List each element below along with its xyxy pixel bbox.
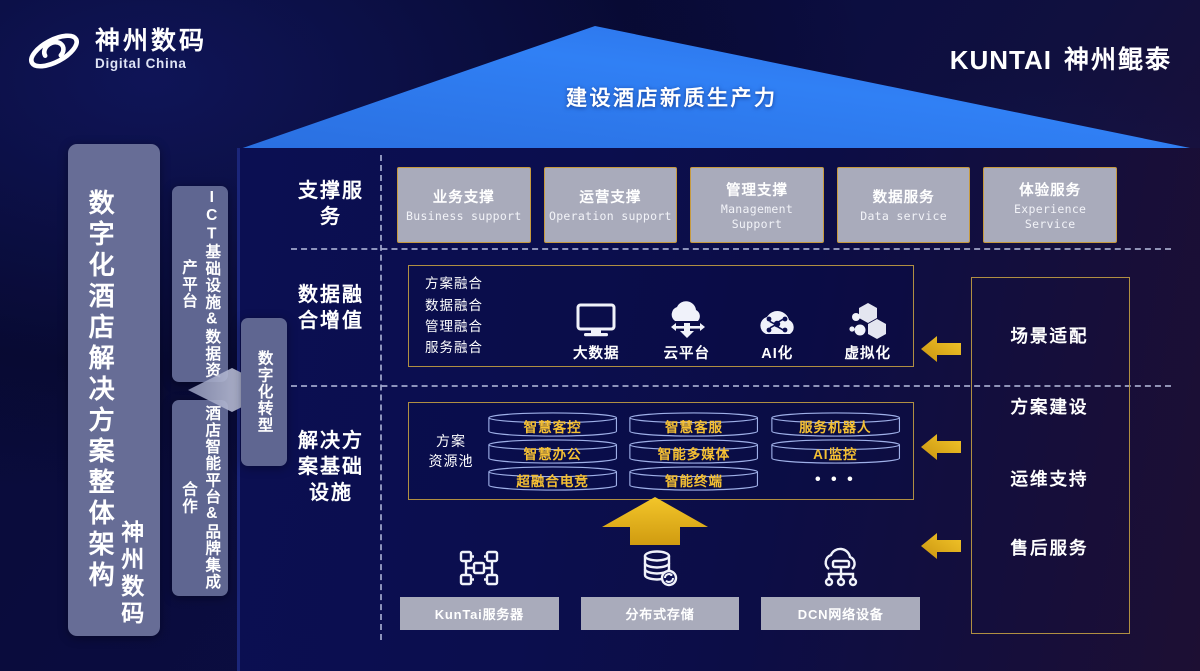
- fusion-item[interactable]: 大数据: [553, 295, 639, 363]
- support-card[interactable]: 体验服务 ExperienceService: [983, 167, 1117, 243]
- cubes-icon: [846, 295, 890, 339]
- hotel-platform-panel[interactable]: 酒店智能平台&品牌集成合作: [172, 400, 228, 596]
- pool-item[interactable]: AI监控: [770, 439, 901, 464]
- support-card-subtitle: Data service: [860, 209, 947, 223]
- pool-item-label: 智慧客服: [665, 413, 723, 436]
- support-card-title: 数据服务: [873, 186, 935, 207]
- infrastructure-row: KunTai服务器 分布式存储: [400, 530, 920, 630]
- support-card-subtitle: ManagementSupport: [721, 202, 793, 231]
- pool-item[interactable]: 智慧客服: [628, 412, 759, 437]
- infra-item-label: DCN网络设备: [761, 597, 920, 630]
- server-cluster-icon: [456, 545, 502, 589]
- support-card[interactable]: 运营支撑 Operation support: [544, 167, 678, 243]
- pool-item[interactable]: 服务机器人: [770, 412, 901, 437]
- logo-title-cn: 神州数码: [95, 28, 207, 54]
- divider-vertical-dashed: [380, 155, 382, 640]
- digital-transform-panel[interactable]: 数字化转型: [241, 318, 287, 466]
- pool-item-label: AI监控: [813, 440, 858, 463]
- fusion-item-label: AI化: [761, 342, 793, 363]
- fusion-item-label: 虚拟化: [845, 342, 892, 363]
- pool-item[interactable]: 智能终端: [628, 466, 759, 491]
- data-fusion-box: 方案融合数据融合管理融合服务融合 大数据: [408, 265, 914, 367]
- slide-canvas: 神州数码 Digital China KUNTAI 神州鲲泰 建设酒店新质生产力…: [0, 0, 1200, 671]
- pool-item-label: 智慧客控: [524, 413, 582, 436]
- service-item-solution[interactable]: 方案建设: [971, 394, 1128, 419]
- fusion-item[interactable]: 云平台: [644, 295, 730, 363]
- cloud-ai-node-icon: [754, 295, 800, 339]
- pool-item[interactable]: 智慧客控: [487, 412, 618, 437]
- digital-transform-label: 数字化转型: [252, 350, 275, 434]
- house-left-edge: [237, 148, 240, 671]
- pool-item-more[interactable]: • • •: [770, 466, 901, 491]
- infra-item-label: KunTai服务器: [400, 597, 559, 630]
- row-label-support: 支撑服务: [292, 178, 370, 230]
- cloud-sync-icon: [664, 295, 710, 339]
- logo-title-en: Digital China: [95, 55, 207, 74]
- left-arrow-icon: [921, 434, 961, 460]
- service-item-scenario[interactable]: 场景适配: [971, 323, 1128, 348]
- service-item-ops[interactable]: 运维支持: [971, 466, 1128, 491]
- left-arrow-icon: [921, 336, 961, 362]
- pool-item-label: 智能终端: [665, 467, 723, 490]
- resource-pool-label: 方案资源池: [409, 431, 483, 472]
- architecture-subtitle-text: 神州数码: [114, 520, 147, 636]
- architecture-title-panel: 数字化酒店解决方案整体架构 神州数码: [68, 144, 160, 636]
- support-card-title: 体验服务: [1019, 179, 1081, 200]
- support-services-row: 业务支撑 Business support 运营支撑 Operation sup…: [397, 167, 1117, 243]
- support-card[interactable]: 管理支撑 ManagementSupport: [690, 167, 824, 243]
- support-card-subtitle: Business support: [406, 209, 522, 223]
- support-card[interactable]: 数据服务 Data service: [837, 167, 971, 243]
- pool-item[interactable]: 智能多媒体: [628, 439, 759, 464]
- divider-horizontal-dashed-top: [291, 248, 1171, 250]
- solution-resource-pool-box: 方案资源池 智慧客控 智慧客服 服务机器人 智慧办公 智能多媒体: [408, 402, 914, 500]
- support-card-title: 运营支撑: [579, 186, 641, 207]
- infra-item[interactable]: KunTai服务器: [400, 530, 559, 630]
- fusion-item-label: 云平台: [664, 342, 711, 363]
- galaxy-swirl-icon: [26, 26, 82, 76]
- pool-item[interactable]: 超融合电竞: [487, 466, 618, 491]
- infra-item[interactable]: 分布式存储: [581, 530, 740, 630]
- infra-item[interactable]: DCN网络设备: [761, 530, 920, 630]
- support-card-title: 业务支撑: [433, 186, 495, 207]
- database-sync-icon: [639, 545, 681, 589]
- support-card[interactable]: 业务支撑 Business support: [397, 167, 531, 243]
- pool-item-label: 超融合电竞: [516, 467, 589, 490]
- support-card-subtitle: ExperienceService: [1014, 202, 1086, 231]
- row-label-infrastructure: 解决方案基础设施: [292, 428, 370, 506]
- cloud-network-icon: [817, 545, 865, 589]
- fusion-item[interactable]: 虚拟化: [825, 295, 911, 363]
- roof-title: 建设酒店新质生产力: [566, 82, 778, 112]
- infra-item-label: 分布式存储: [581, 597, 740, 630]
- pool-item-label: 智慧办公: [524, 440, 582, 463]
- fusion-item-label: 大数据: [573, 342, 620, 363]
- fusion-list: 方案融合数据融合管理融合服务融合: [409, 273, 551, 358]
- fusion-item[interactable]: AI化: [734, 295, 820, 363]
- ict-platform-label: ICT基础设施&数据资产平台: [177, 186, 224, 382]
- row-label-data-fusion: 数据融合增值: [292, 282, 370, 334]
- service-item-aftersales[interactable]: 售后服务: [971, 535, 1128, 560]
- pool-item-label: • • •: [815, 468, 856, 489]
- digital-china-logo: 神州数码 Digital China: [26, 26, 207, 76]
- architecture-title-text: 数字化酒店解决方案整体架构: [81, 189, 118, 592]
- pool-item[interactable]: 智慧办公: [487, 439, 618, 464]
- left-arrow-icon: [921, 533, 961, 559]
- support-card-title: 管理支撑: [726, 179, 788, 200]
- monitor-icon: [576, 295, 616, 339]
- pool-item-label: 智能多媒体: [658, 440, 731, 463]
- pool-item-label: 服务机器人: [799, 413, 872, 436]
- ict-platform-panel[interactable]: ICT基础设施&数据资产平台: [172, 186, 228, 382]
- support-card-subtitle: Operation support: [549, 209, 672, 223]
- hotel-platform-label: 酒店智能平台&品牌集成合作: [177, 400, 224, 596]
